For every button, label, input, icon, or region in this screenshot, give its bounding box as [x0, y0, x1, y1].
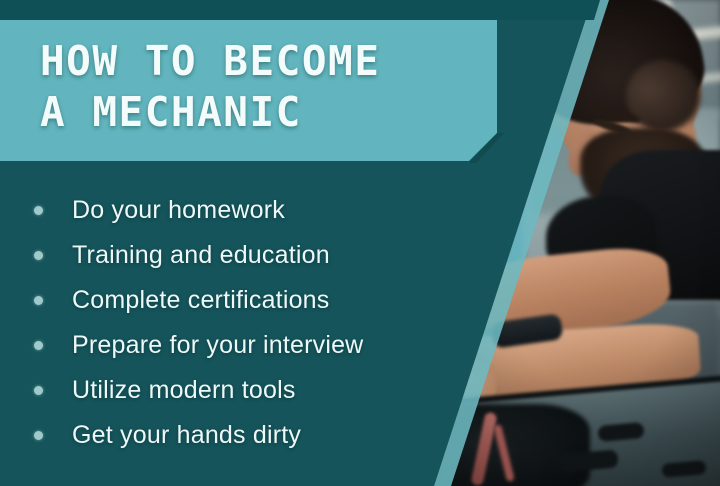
bullet-dot-icon [34, 386, 43, 395]
bullet-dot-icon [34, 206, 43, 215]
bullet-dot-icon [34, 341, 43, 350]
list-item-label: Training and education [72, 241, 330, 270]
list-item-label: Do your homework [72, 196, 285, 225]
list-item-label: Complete certifications [72, 286, 329, 315]
infographic-card: HOW TO BECOME A MECHANIC Do your homewor… [0, 0, 720, 486]
list-item-label: Utilize modern tools [72, 376, 296, 405]
list-item: Utilize modern tools [34, 368, 434, 413]
bullet-dot-icon [34, 296, 43, 305]
list-item-label: Prepare for your interview [72, 331, 363, 360]
bullet-dot-icon [34, 431, 43, 440]
bullet-dot-icon [34, 251, 43, 260]
top-dark-strip [0, 0, 600, 20]
steps-list: Do your homework Training and education … [34, 188, 434, 458]
list-item: Do your homework [34, 188, 434, 233]
page-title: HOW TO BECOME A MECHANIC [40, 36, 480, 138]
list-item: Prepare for your interview [34, 323, 434, 368]
list-item: Complete certifications [34, 278, 434, 323]
list-item-label: Get your hands dirty [72, 421, 301, 450]
list-item: Training and education [34, 233, 434, 278]
list-item: Get your hands dirty [34, 413, 434, 458]
